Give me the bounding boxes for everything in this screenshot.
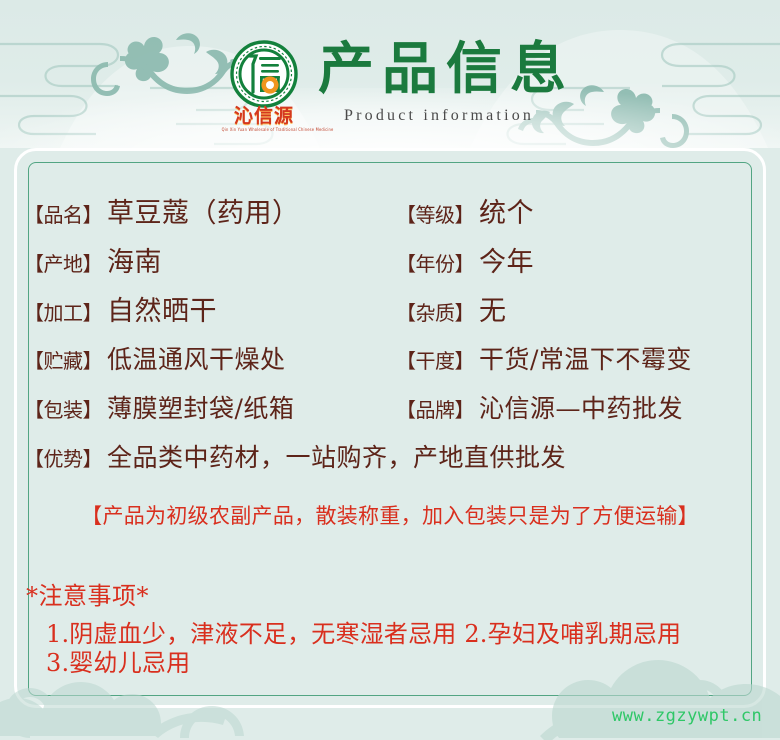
spec-cell-grade: 【等级】 统个: [396, 191, 534, 230]
brand-logo: 沁信源 Qin Xin Yuan Wholesale of Traditiona…: [218, 40, 310, 138]
spec-cell-brand: 【品牌】 沁信源—中药批发: [396, 389, 683, 425]
spec-label: 【加工】: [24, 297, 102, 326]
spec-value: 自然晒干: [107, 289, 217, 328]
page-header: 沁信源 Qin Xin Yuan Wholesale of Traditiona…: [0, 0, 780, 148]
spec-row: 【品名】 草豆蔻（药用） 【等级】 统个: [0, 186, 780, 235]
spec-cell-year: 【年份】 今年: [396, 240, 534, 279]
spec-label: 【产地】: [24, 248, 102, 277]
spec-value: 全品类中药材，一站购齐，产地直供批发: [107, 438, 566, 474]
spec-cell-product-name: 【品名】 草豆蔻（药用）: [24, 191, 300, 230]
spec-row: 【包装】 薄膜塑封袋/纸箱 【品牌】 沁信源—中药批发: [0, 382, 780, 431]
spec-cell-processing: 【加工】 自然晒干: [24, 289, 217, 328]
product-info-page: 沁信源 Qin Xin Yuan Wholesale of Traditiona…: [0, 0, 780, 740]
caution-line: 3.婴幼儿忌用: [46, 649, 758, 678]
spec-row: 【产地】 海南 【年份】 今年: [0, 235, 780, 284]
spec-label: 【干度】: [396, 345, 474, 374]
spec-value: 低温通风干燥处: [107, 340, 286, 376]
spec-value: 干货/常温下不霉变: [479, 340, 692, 376]
spec-label: 【等级】: [396, 199, 474, 228]
spec-cell-advantage: 【优势】 全品类中药材，一站购齐，产地直供批发: [24, 438, 566, 474]
spec-cell-dryness: 【干度】 干货/常温下不霉变: [396, 340, 692, 376]
spec-value: 今年: [479, 240, 534, 279]
spec-label: 【品名】: [24, 199, 102, 228]
spec-cell-impurity: 【杂质】 无: [396, 289, 507, 328]
brand-tagline: Qin Xin Yuan Wholesale of Traditional Ch…: [222, 127, 307, 132]
caution-line: 1.阴虚血少，津液不足，无寒湿者忌用 2.孕妇及哺乳期忌用: [46, 620, 758, 649]
spec-row: 【贮藏】 低温通风干燥处 【干度】 干货/常温下不霉变: [0, 333, 780, 382]
page-title: 产品信息: [318, 38, 574, 100]
spec-value: 统个: [479, 191, 534, 230]
spec-value: 无: [479, 289, 507, 328]
spec-value: 草豆蔻（药用）: [107, 191, 300, 230]
spec-value: 海南: [107, 240, 162, 279]
spec-value: 沁信源—中药批发: [479, 389, 683, 425]
spec-cell-storage: 【贮藏】 低温通风干燥处: [24, 340, 286, 376]
spec-label: 【品牌】: [396, 394, 474, 423]
spec-label: 【优势】: [24, 443, 102, 472]
caution-title: *注意事项*: [26, 576, 149, 611]
spec-row: 【加工】 自然晒干 【杂质】 无: [0, 284, 780, 333]
brand-emblem-icon: [230, 40, 298, 108]
spec-label: 【年份】: [396, 248, 474, 277]
page-subtitle: Product information: [344, 107, 534, 125]
spec-label: 【杂质】: [396, 297, 474, 326]
spec-row: 【优势】 全品类中药材，一站购齐，产地直供批发: [0, 431, 780, 480]
red-disclaimer-note: 【产品为初级农副产品，散装称重，加入包装只是为了方便运输】: [0, 500, 780, 530]
spec-table: 【品名】 草豆蔻（药用） 【等级】 统个 【产地】 海南 【年份】 今年 【加工…: [0, 186, 780, 480]
spec-label: 【包装】: [24, 394, 102, 423]
site-watermark: www.zgzywpt.cn: [612, 706, 762, 726]
spec-label: 【贮藏】: [24, 345, 102, 374]
spec-cell-packaging: 【包装】 薄膜塑封袋/纸箱: [24, 389, 294, 425]
spec-value: 薄膜塑封袋/纸箱: [107, 389, 294, 425]
caution-list: 1.阴虚血少，津液不足，无寒湿者忌用 2.孕妇及哺乳期忌用 3.婴幼儿忌用: [46, 620, 758, 678]
brand-name: 沁信源: [218, 106, 310, 126]
spec-cell-origin: 【产地】 海南: [24, 240, 162, 279]
